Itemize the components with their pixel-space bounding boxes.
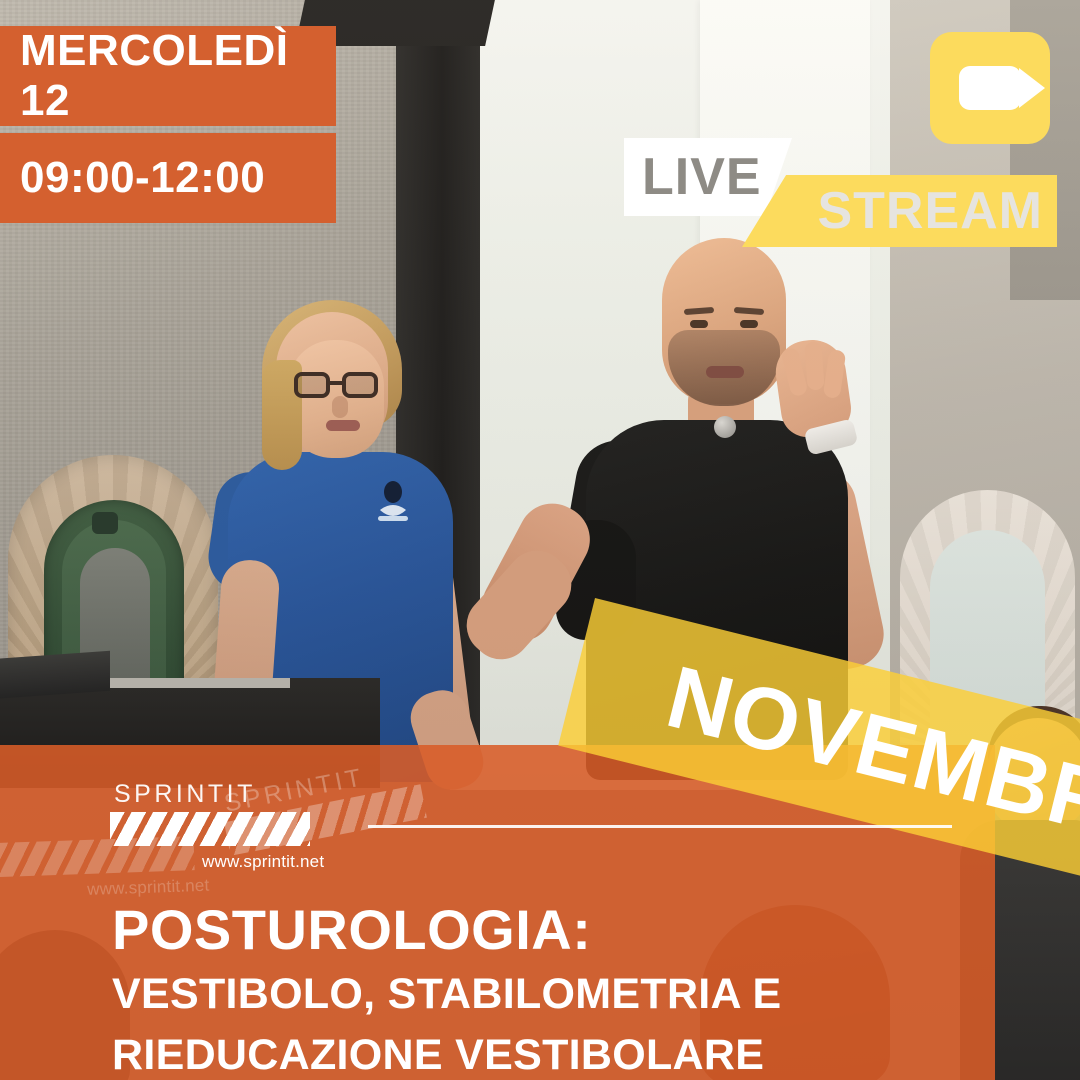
arch-left-knob: [92, 512, 118, 534]
man-eye-right: [740, 320, 758, 328]
camera-lens-shape: [1019, 68, 1045, 108]
man-finger-2: [804, 341, 824, 390]
date-label: MERCOLEDÌ 12: [20, 26, 336, 126]
woman-eyeglasses: [294, 372, 386, 398]
stream-label: STREAM: [817, 185, 1043, 237]
man-shirt-pin: [714, 416, 736, 438]
logo-stripes-mark: [110, 812, 310, 846]
live-badge: LIVE: [624, 138, 792, 216]
live-label: LIVE: [642, 151, 762, 203]
eyeglass-lens-left: [294, 372, 330, 398]
logo-wordmark: SPRINTIT: [114, 780, 256, 809]
title-line-2: VESTIBOLO, STABILOMETRIA E: [112, 968, 952, 1020]
woman-mouth: [326, 420, 360, 431]
video-camera-badge: [930, 32, 1050, 144]
poster-canvas: MERCOLEDÌ 12 09:00-12:00 LIVE STREAM NOV…: [0, 0, 1080, 1080]
shirt-logo-icon: [370, 480, 416, 528]
time-label: 09:00-12:00: [20, 153, 265, 203]
eyeglass-lens-right: [342, 372, 378, 398]
divider-line: [368, 825, 952, 828]
date-banner: MERCOLEDÌ 12: [0, 26, 336, 126]
video-camera-icon: [959, 66, 1021, 110]
logo-url: www.sprintit.net: [202, 852, 324, 872]
title-line-1: POSTUROLOGIA:: [112, 900, 952, 960]
title-block: POSTUROLOGIA: VESTIBOLO, STABILOMETRIA E…: [112, 900, 952, 1080]
brand-logo[interactable]: SPRINTIT www.sprintit.net: [110, 780, 310, 875]
laptop: [0, 651, 110, 699]
time-banner: 09:00-12:00: [0, 133, 336, 223]
woman-nose: [332, 396, 348, 418]
man-eye-left: [690, 320, 708, 328]
stream-badge: STREAM: [742, 175, 1057, 247]
man-mouth: [706, 366, 744, 378]
title-line-3: RIEDUCAZIONE VESTIBOLARE: [112, 1029, 952, 1080]
